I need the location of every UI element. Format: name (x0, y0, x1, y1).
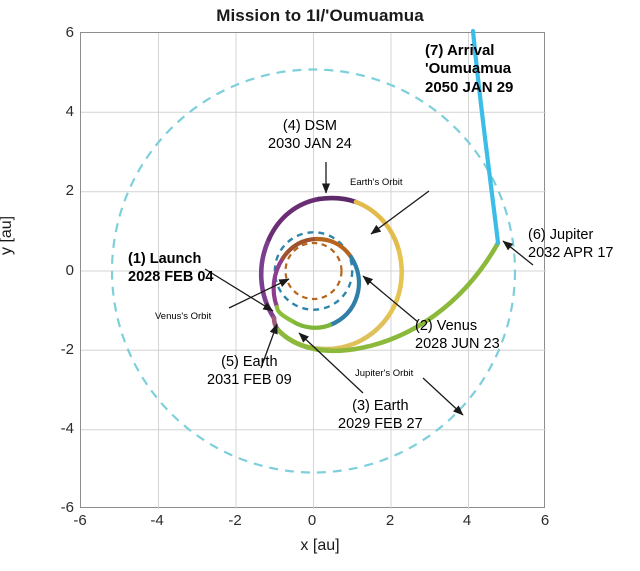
trajectory-inner-loop (274, 239, 359, 328)
annotation-venus-orbit: Venus's Orbit (155, 311, 211, 323)
annotation-dsm-line2: 2030 JAN 24 (268, 136, 352, 154)
annotation-venus-line2: 2028 JUN 23 (415, 336, 500, 354)
annotation-earth3-line1: (3) Earth (338, 398, 423, 416)
annotation-launch: (1) Launch 2028 FEB 04 (128, 251, 213, 286)
annotation-earth3-line2: 2029 FEB 27 (338, 416, 423, 434)
annotation-jupiter-line1: (6) Jupiter (528, 227, 613, 245)
x-tick-label: 6 (525, 512, 565, 529)
annotation-arrival-line3: 2050 JAN 29 (425, 79, 513, 97)
y-axis-label: y [au] (0, 216, 16, 255)
annotation-jupiter-line2: 2032 APR 17 (528, 245, 613, 263)
annotation-dsm: (4) DSM 2030 JAN 24 (268, 118, 352, 153)
y-tick-label: -2 (40, 341, 74, 358)
annotation-arrival: (7) Arrival 'Oumuamua 2050 JAN 29 (425, 42, 513, 97)
annotation-earth5: (5) Earth 2031 FEB 09 (207, 354, 292, 389)
x-axis-label: x [au] (0, 537, 640, 555)
annotation-earth5-line1: (5) Earth (207, 354, 292, 372)
leader-earth-orbit (371, 191, 429, 234)
annotation-jupiter-orbit: Jupiter's Orbit (355, 368, 413, 380)
x-tick-label: 4 (447, 512, 487, 529)
annotation-launch-line2: 2028 FEB 04 (128, 269, 213, 287)
x-tick-label: -6 (60, 512, 100, 529)
annotation-arrival-line2: 'Oumuamua (425, 60, 513, 78)
leader-jupiter-orbit (423, 378, 463, 415)
annotation-earth3: (3) Earth 2029 FEB 27 (338, 398, 423, 433)
leader-venus-orbit (229, 279, 289, 308)
y-tick-label: 4 (40, 103, 74, 120)
annotation-venus-line1: (2) Venus (415, 318, 500, 336)
annotation-earth-orbit: Earth's Orbit (350, 177, 403, 189)
annotation-jupiter: (6) Jupiter 2032 APR 17 (528, 227, 613, 262)
y-tick-label: 0 (40, 262, 74, 279)
y-tick-label: 6 (40, 24, 74, 41)
x-tick-label: -2 (215, 512, 255, 529)
x-tick-label: -4 (137, 512, 177, 529)
x-tick-label: 0 (292, 512, 332, 529)
y-tick-label: -4 (40, 420, 74, 437)
y-tick-label: 2 (40, 182, 74, 199)
annotation-dsm-line1: (4) DSM (268, 118, 352, 136)
annotation-earth5-line2: 2031 FEB 09 (207, 372, 292, 390)
annotation-arrival-line1: (7) Arrival (425, 42, 513, 60)
chart-root: Mission to 1I/'Oumuamua 6 4 2 0 -2 -4 -6… (0, 0, 640, 571)
annotation-venus: (2) Venus 2028 JUN 23 (415, 318, 500, 353)
chart-title: Mission to 1I/'Oumuamua (0, 6, 640, 26)
annotation-launch-line1: (1) Launch (128, 251, 213, 269)
x-tick-label: 2 (370, 512, 410, 529)
